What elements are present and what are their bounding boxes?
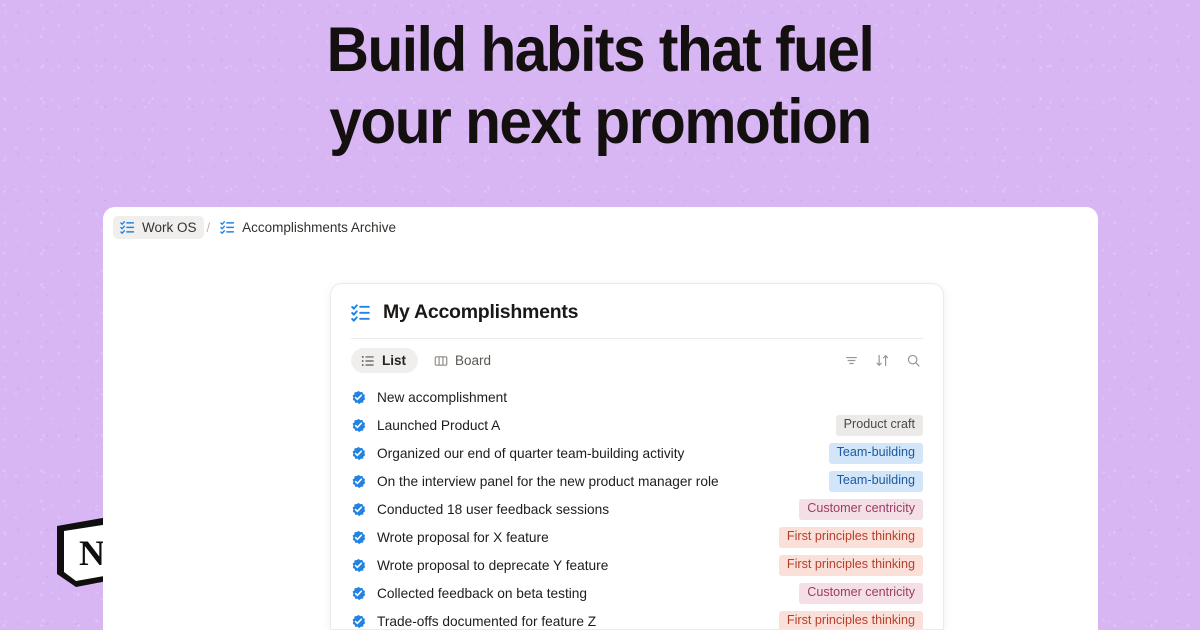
board-view-icon xyxy=(434,354,448,368)
status-badge[interactable]: First principles thinking xyxy=(779,611,923,630)
tab-label: List xyxy=(382,353,406,368)
verified-check-icon xyxy=(351,446,366,461)
verified-check-icon xyxy=(351,530,366,545)
filter-icon[interactable] xyxy=(844,353,859,368)
list-item[interactable]: Launched Product A Product craft xyxy=(351,411,923,439)
page-title: Build habits that fuel your next promoti… xyxy=(42,14,1158,158)
list-item[interactable]: Wrote proposal for X feature First princ… xyxy=(351,523,923,551)
status-badge[interactable]: First principles thinking xyxy=(779,555,923,576)
checklist-icon xyxy=(120,220,135,235)
breadcrumb-separator: / xyxy=(204,220,214,235)
verified-check-icon xyxy=(351,614,366,629)
list-item[interactable]: New accomplishment xyxy=(351,383,923,411)
checklist-icon xyxy=(351,303,371,323)
list-item-label: On the interview panel for the new produ… xyxy=(377,474,719,489)
breadcrumb-item-accomplishments-archive[interactable]: Accomplishments Archive xyxy=(213,216,403,239)
checklist-icon xyxy=(220,220,235,235)
list-item-label: Organized our end of quarter team-buildi… xyxy=(377,446,684,461)
verified-check-icon xyxy=(351,502,366,517)
status-badge[interactable]: Customer centricity xyxy=(799,499,923,520)
list-item[interactable]: Conducted 18 user feedback sessions Cust… xyxy=(351,495,923,523)
list-item[interactable]: Wrote proposal to deprecate Y feature Fi… xyxy=(351,551,923,579)
tab-list[interactable]: List xyxy=(351,348,418,373)
status-badge[interactable]: Team-building xyxy=(829,443,923,464)
list-view-icon xyxy=(361,354,375,368)
list-item[interactable]: Organized our end of quarter team-buildi… xyxy=(351,439,923,467)
list-item-label: New accomplishment xyxy=(377,390,507,405)
verified-check-icon xyxy=(351,474,366,489)
view-tabs: List Board xyxy=(331,339,943,379)
verified-check-icon xyxy=(351,586,366,601)
card-header: My Accomplishments xyxy=(331,284,943,338)
status-badge[interactable]: Product craft xyxy=(836,415,923,436)
breadcrumb-label: Accomplishments Archive xyxy=(242,220,396,235)
status-badge[interactable]: Team-building xyxy=(829,471,923,492)
status-badge[interactable]: First principles thinking xyxy=(779,527,923,548)
verified-check-icon xyxy=(351,558,366,573)
list-item-label: Conducted 18 user feedback sessions xyxy=(377,502,609,517)
accomplishments-card: My Accomplishments List xyxy=(330,283,944,630)
search-icon[interactable] xyxy=(906,353,921,368)
view-toolbar xyxy=(844,353,923,368)
breadcrumb-item-work-os[interactable]: Work OS xyxy=(113,216,204,239)
list-item[interactable]: Collected feedback on beta testing Custo… xyxy=(351,579,923,607)
verified-check-icon xyxy=(351,390,366,405)
verified-check-icon xyxy=(351,418,366,433)
accomplishments-list: New accomplishment Launched Product A Pr… xyxy=(331,379,943,630)
breadcrumb: Work OS / Accomplishments Archive xyxy=(103,207,1098,247)
list-item-label: Wrote proposal to deprecate Y feature xyxy=(377,558,608,573)
list-item-label: Launched Product A xyxy=(377,418,500,433)
sort-icon[interactable] xyxy=(875,353,890,368)
svg-text:N: N xyxy=(79,533,105,573)
list-item[interactable]: Trade-offs documented for feature Z Firs… xyxy=(351,607,923,630)
list-item-label: Wrote proposal for X feature xyxy=(377,530,549,545)
list-item-label: Trade-offs documented for feature Z xyxy=(377,614,596,629)
list-item-label: Collected feedback on beta testing xyxy=(377,586,587,601)
breadcrumb-label: Work OS xyxy=(142,220,197,235)
status-badge[interactable]: Customer centricity xyxy=(799,583,923,604)
list-item[interactable]: On the interview panel for the new produ… xyxy=(351,467,923,495)
promo-canvas: Build habits that fuel your next promoti… xyxy=(0,0,1200,630)
tab-board[interactable]: Board xyxy=(424,348,503,373)
tab-label: Board xyxy=(455,353,491,368)
card-title: My Accomplishments xyxy=(383,301,578,324)
